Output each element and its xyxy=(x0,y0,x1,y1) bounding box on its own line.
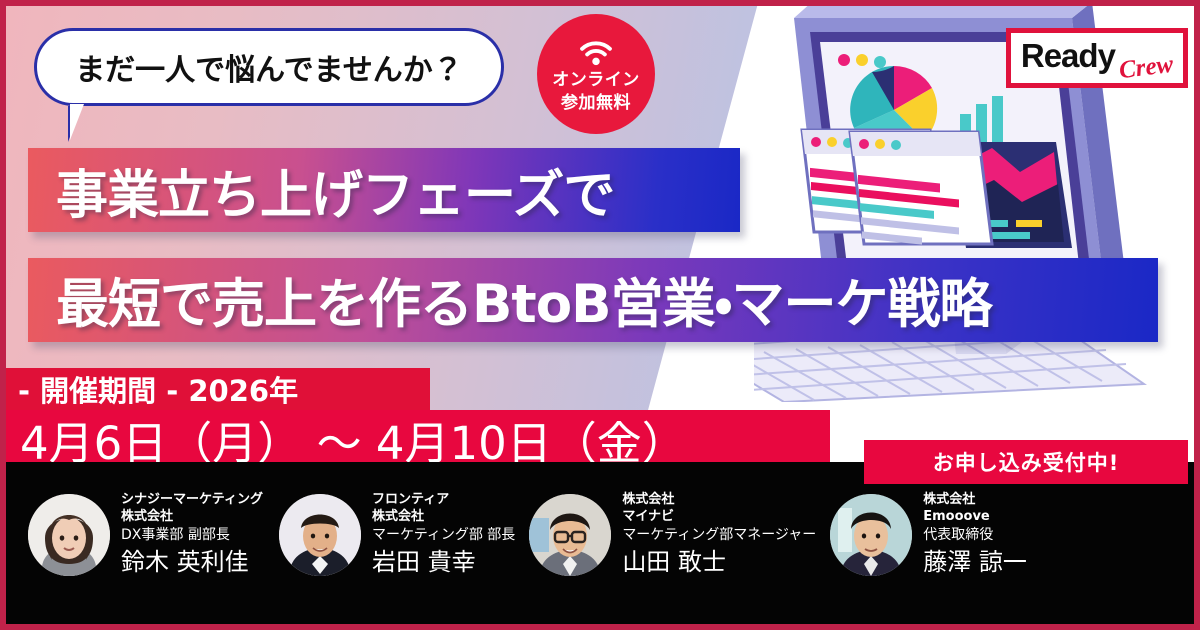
event-dates: 4月6日（月） 〜 4月10日（金） xyxy=(6,407,687,463)
speaker-avatar-suzuki xyxy=(28,494,110,576)
speaker-role: マーケティング部 部長 xyxy=(372,525,515,545)
speaker-card: フロンティア 株式会社 マーケティング部 部長 岩田 貴幸 xyxy=(279,484,515,577)
online-free-badge: オンライン 参加無料 xyxy=(537,14,655,134)
speaker-company: シナジーマーケティング 株式会社 xyxy=(121,492,263,525)
speaker-card: 株式会社 マイナビ マーケティング部マネージャー 山田 敢士 xyxy=(529,484,816,577)
event-dates-bar: 4月6日（月） 〜 4月10日（金） xyxy=(6,410,830,462)
headline-line-2: 最短で売上を作るBtoB営業・マーケ戦略 xyxy=(28,262,992,338)
speaker-avatar-fujisawa xyxy=(830,494,912,576)
speaker-avatar-yamada xyxy=(529,494,611,576)
wifi-icon xyxy=(579,40,613,66)
headline-band-1: 事業立ち上げフェーズで xyxy=(28,148,740,232)
hero-section: Ready Crew まだ一人で悩んでませんか？ オンライン 参加無料 事業立ち… xyxy=(6,6,1194,462)
speaker-name: 鈴木 英利佳 xyxy=(121,547,263,577)
speech-bubble: まだ一人で悩んでませんか？ xyxy=(34,28,504,106)
speaker-avatar-iwata xyxy=(279,494,361,576)
speech-bubble-tail xyxy=(70,104,84,140)
apply-now-label: お申し込み受付中! xyxy=(933,447,1120,477)
speaker-company: 株式会社 マイナビ xyxy=(622,492,816,525)
speaker-name: 藤澤 諒一 xyxy=(923,547,1027,577)
speaker-name: 山田 敢士 xyxy=(622,547,816,577)
online-badge-line1: オンライン xyxy=(552,70,640,91)
speech-bubble-text: まだ一人で悩んでませんか？ xyxy=(75,45,463,89)
speaker-company: 株式会社 Emooove xyxy=(923,492,1027,525)
event-period-label: - 開催期間 - 2026年 xyxy=(6,368,298,410)
speaker-role: DX事業部 副部長 xyxy=(121,525,263,545)
speaker-card: シナジーマーケティング 株式会社 DX事業部 副部長 鈴木 英利佳 xyxy=(28,484,263,577)
logo-secondary-text: Crew xyxy=(1118,51,1175,82)
event-period-label-bar: - 開催期間 - 2026年 xyxy=(6,368,430,410)
headline-band-2: 最短で売上を作るBtoB営業・マーケ戦略 xyxy=(28,258,1158,342)
speaker-list: シナジーマーケティング 株式会社 DX事業部 副部長 鈴木 英利佳 xyxy=(6,484,1194,630)
headline-line-1: 事業立ち上げフェーズで xyxy=(28,153,614,228)
speaker-role: マーケティング部マネージャー xyxy=(622,525,816,545)
logo-primary-text: Ready xyxy=(1021,39,1115,72)
speaker-name: 岩田 貴幸 xyxy=(372,547,515,577)
speaker-company: フロンティア 株式会社 xyxy=(372,492,515,525)
online-badge-line2: 参加無料 xyxy=(561,93,631,114)
webinar-banner: Ready Crew まだ一人で悩んでませんか？ オンライン 参加無料 事業立ち… xyxy=(0,0,1200,630)
ready-crew-logo[interactable]: Ready Crew xyxy=(1006,28,1188,88)
apply-now-badge[interactable]: お申し込み受付中! xyxy=(864,440,1188,484)
speaker-card: 株式会社 Emooove 代表取締役 藤澤 諒一 xyxy=(830,484,1027,577)
speaker-role: 代表取締役 xyxy=(923,525,1027,545)
